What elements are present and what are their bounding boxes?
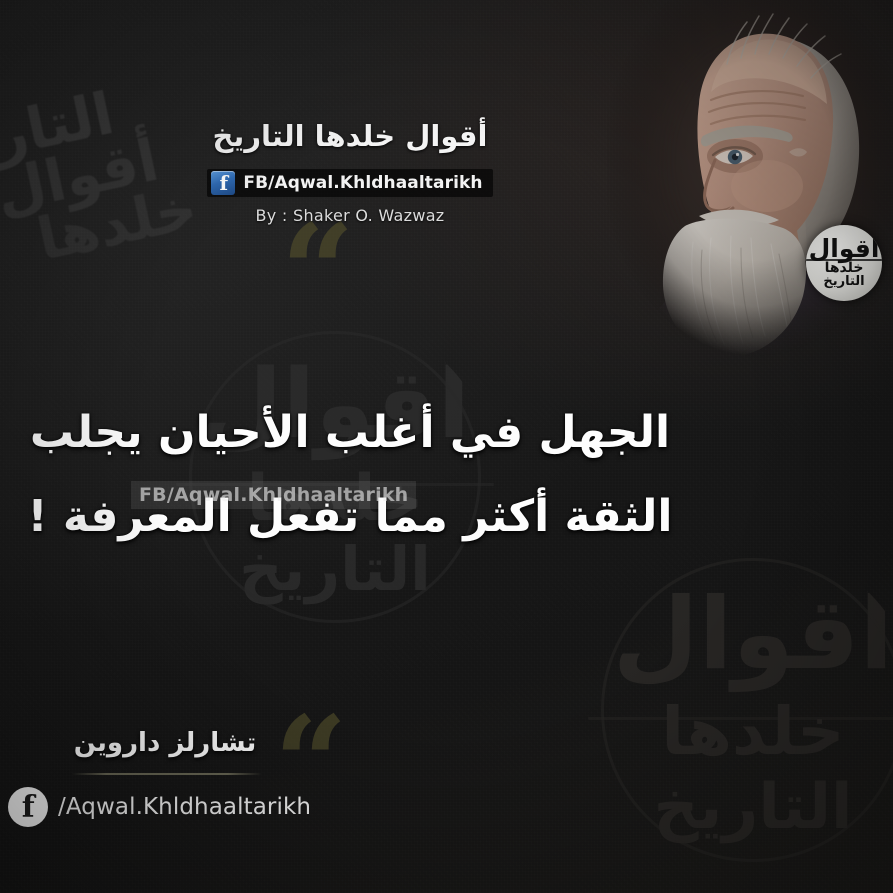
watermark-line-2: أقوال bbox=[0, 133, 163, 228]
calligraphy-seal-badge: أقوال خلدها التاريخ bbox=[806, 225, 882, 301]
seal-band bbox=[806, 259, 882, 261]
byline-credit: By : Shaker O. Wazwaz bbox=[150, 206, 550, 225]
medallion-line-3: التاريخ bbox=[654, 770, 853, 843]
calligraphy-medallion-bottomright: أقوال خلدها التاريخ bbox=[588, 545, 893, 875]
footer-facebook-handle: /Aqwal.Khldhaaltarikh bbox=[58, 794, 311, 820]
author-divider bbox=[72, 773, 262, 775]
portrait-charles-darwin bbox=[607, 0, 893, 366]
quote-line-2: الثقة أكثر مما تفعل المعرفة ! bbox=[14, 486, 686, 548]
watermark-line-1: التاريخ bbox=[0, 86, 118, 174]
brand-title: أقوال خلدها التاريخ bbox=[150, 120, 550, 153]
facebook-square-icon bbox=[211, 171, 235, 195]
seal-line-3: التاريخ bbox=[823, 275, 864, 288]
medallion-band bbox=[588, 717, 893, 720]
seal-line-1: أقوال bbox=[809, 238, 880, 261]
quote-line-1: الجهل في أغلب الأحيان يجلب bbox=[14, 402, 686, 464]
quote-card: التاريخ أقوال خلدها أقوال خلدها التاريخ … bbox=[0, 0, 893, 893]
medallion-line-1: أقوال bbox=[613, 577, 893, 692]
medallion-line-2: خلدها bbox=[661, 693, 844, 770]
footer-facebook-link[interactable]: /Aqwal.Khldhaaltarikh bbox=[8, 787, 311, 827]
quote-mark-icon-top: “ bbox=[281, 208, 355, 336]
facebook-circle-icon bbox=[8, 787, 48, 827]
quote-text-block: الجهل في أغلب الأحيان يجلب الثقة أكثر مم… bbox=[14, 402, 686, 549]
medallion-ring bbox=[601, 558, 893, 862]
seal-line-2: خلدها bbox=[825, 261, 864, 275]
facebook-page-link[interactable]: FB/Aqwal.Khldhaaltarikh bbox=[207, 169, 492, 197]
facebook-handle-text: FB/Aqwal.Khldhaaltarikh bbox=[243, 173, 482, 193]
quote-author: تشارلز داروين bbox=[58, 728, 272, 758]
header-block: أقوال خلدها التاريخ FB/Aqwal.Khldhaaltar… bbox=[150, 120, 550, 225]
portrait-image bbox=[607, 0, 893, 366]
